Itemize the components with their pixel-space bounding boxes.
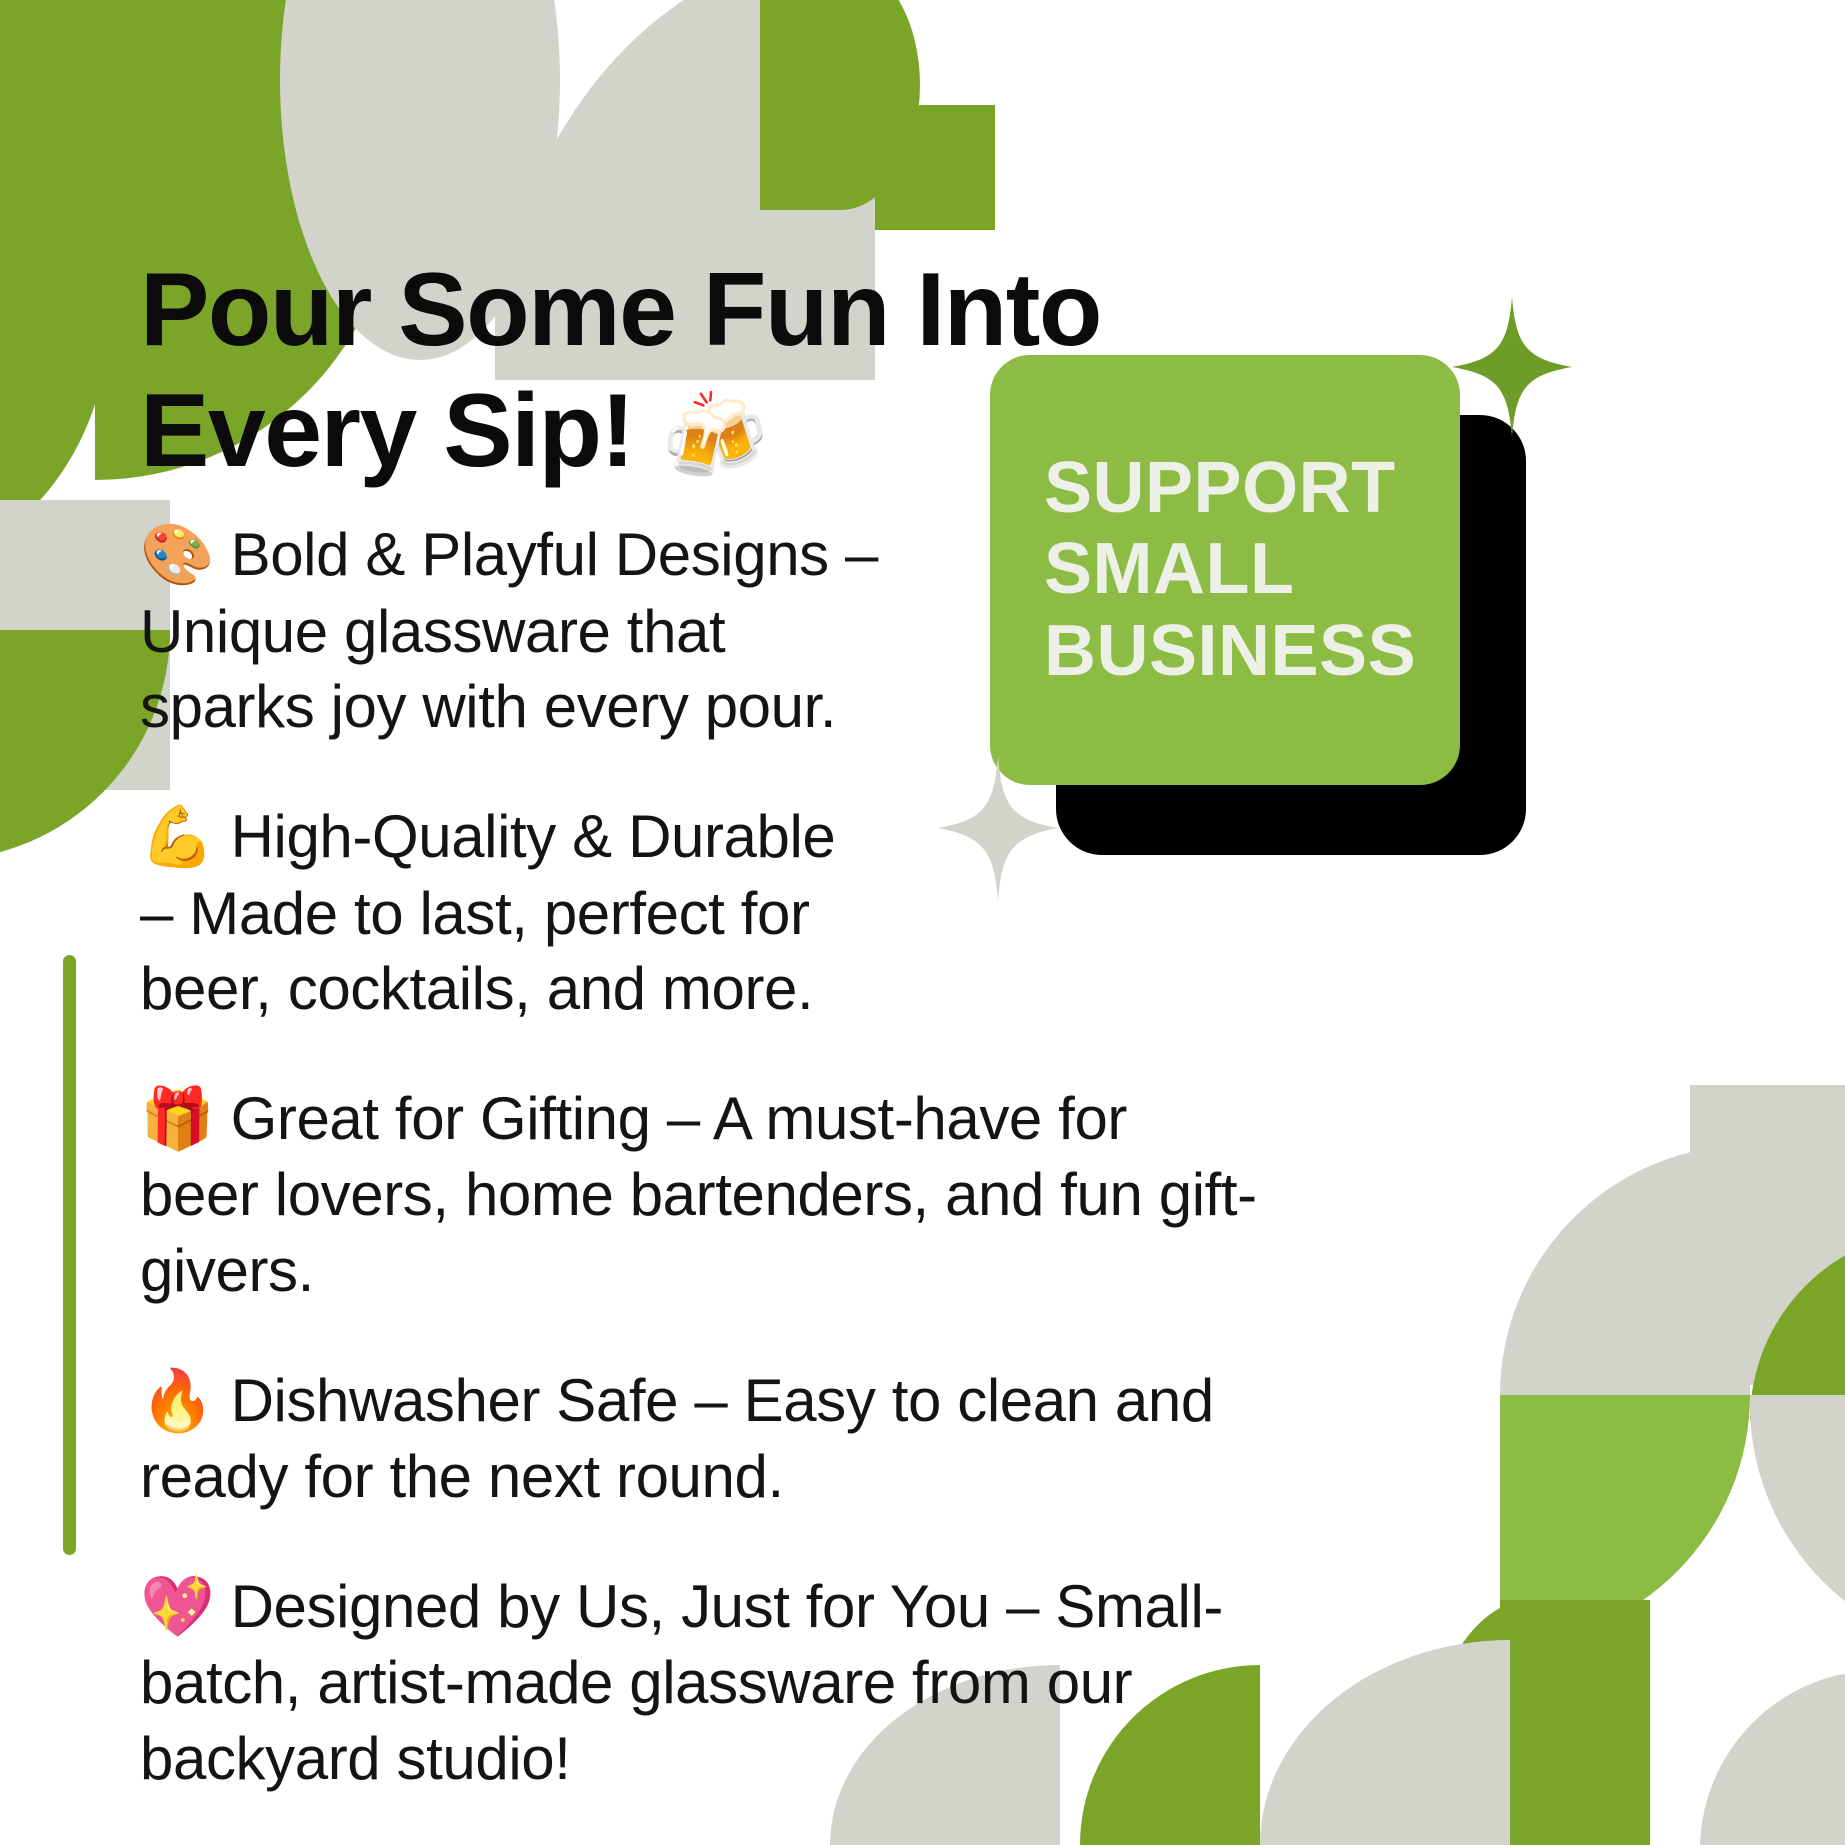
fire-icon: 🔥 (140, 1366, 214, 1436)
sparkle-icon-bottom-left (938, 756, 1058, 901)
badge-line-2: SMALL (1044, 529, 1406, 610)
list-item-text: Dishwasher Safe – Easy to clean and read… (140, 1367, 1214, 1511)
deco-green-rect-left (0, 0, 110, 310)
headline-line-1: Pour Some Fun Into (140, 252, 1101, 368)
badge-line-1: SUPPORT (1044, 448, 1406, 529)
clinking-beer-mugs-icon: 🍻 (661, 387, 767, 487)
left-accent-line (63, 955, 76, 1555)
list-item-text: Designed by Us, Just for You – Small-bat… (140, 1573, 1223, 1792)
list-item: 🎨 Bold & Playful Designs – Unique glassw… (140, 517, 880, 745)
list-item: 💖 Designed by Us, Just for You – Small-b… (140, 1569, 1260, 1797)
wrapped-gift-icon: 🎁 (140, 1084, 214, 1154)
list-item-text: Great for Gifting – A must-have for beer… (140, 1085, 1257, 1304)
sparkling-heart-icon: 💖 (140, 1572, 214, 1642)
deco-gray-quarter-upper (1500, 1145, 1750, 1395)
list-item-text: High-Quality & Durable – Made to last, p… (140, 803, 835, 1022)
list-item: 🎁 Great for Gifting – A must-have for be… (140, 1081, 1260, 1309)
list-item: 💪 High-Quality & Durable – Made to last,… (140, 799, 880, 1027)
deco-gray-quarter-lower (1750, 1395, 1845, 1655)
artist-palette-icon: 🎨 (140, 520, 214, 590)
badge-line-3: BUSINESS (1044, 611, 1406, 692)
badge-card: SUPPORT SMALL BUSINESS (990, 355, 1460, 785)
poster-canvas: Pour Some Fun Into Every Sip! 🍻 🎨 Bold &… (0, 0, 1845, 1845)
flexed-biceps-icon: 💪 (140, 802, 214, 872)
sparkle-icon-top-right (1452, 297, 1572, 437)
support-small-business-badge: SUPPORT SMALL BUSINESS (990, 355, 1550, 855)
headline-line-2: Every Sip! (140, 373, 634, 489)
list-item: 🔥 Dishwasher Safe – Easy to clean and re… (140, 1363, 1260, 1515)
deco-gray-bottom-mid (1260, 1640, 1510, 1845)
deco-gray-bottom-right (1700, 1670, 1845, 1845)
deco-green-square-right (875, 105, 995, 230)
list-item-text: Bold & Playful Designs – Unique glasswar… (140, 521, 878, 740)
